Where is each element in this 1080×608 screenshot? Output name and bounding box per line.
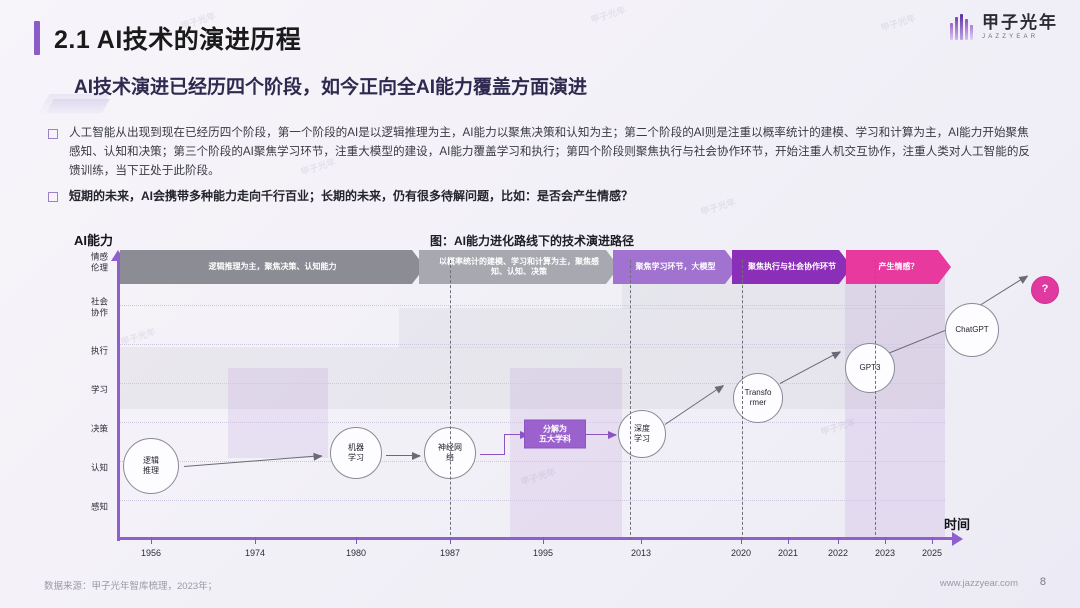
y-tick-label: 决策	[91, 424, 108, 435]
brand-logo: 甲子光年 JAZZYEAR	[950, 14, 1058, 40]
x-tick	[151, 537, 152, 544]
flow-arrow	[386, 455, 420, 456]
gridline	[120, 383, 945, 384]
y-tick-label: 社会协作	[91, 296, 108, 317]
plot-area: 情感伦理 社会协作 执行 学习 决策 认知 感知	[120, 266, 945, 537]
bullet-text: 短期的未来，AI会携带多种能力走向千行百业；长期的未来，仍有很多待解问题，比如：…	[69, 187, 633, 206]
logo-name-en: JAZZYEAR	[982, 34, 1058, 40]
x-tick	[255, 537, 256, 544]
node-label: Transformer	[745, 388, 772, 407]
watermark: 甲子光年	[589, 3, 627, 26]
bullet-square-icon	[48, 129, 58, 139]
x-tick	[788, 537, 789, 544]
phase-arrow-1[interactable]: 逻辑推理为主，聚焦决策、认知能力	[120, 250, 425, 284]
node-five-disciplines[interactable]: 分解为五大学科	[524, 420, 586, 449]
logo-bars-icon	[950, 14, 975, 40]
bullet-list: 人工智能从出现到现在已经历四个阶段，第一个阶段的AI是以逻辑推理为主，AI能力以…	[48, 124, 1040, 214]
y-tick-label: 学习	[91, 385, 108, 396]
title-accent-bar	[34, 21, 40, 55]
chart-container: AI能力 图：AI能力进化路线下的技术演进路径 时间 情感伦理 社会协作 执行 …	[0, 228, 1080, 568]
node-deep-learning[interactable]: 深度学习	[618, 410, 666, 458]
footer-page-number: 8	[1040, 576, 1046, 588]
phase-label: 聚焦执行与社会协作环节	[748, 262, 836, 272]
node-label: 分解为五大学科	[539, 424, 571, 444]
phase-arrow-5[interactable]: 产生情感？	[846, 250, 951, 284]
subtitle-decoration-2	[46, 99, 109, 113]
y-tick-label: 感知	[91, 502, 108, 513]
phase-divider	[742, 260, 743, 540]
node-label: 逻辑推理	[143, 456, 159, 475]
y-tick-label: 认知	[91, 463, 108, 474]
subtitle-block: AI技术演进已经历四个阶段，如今正向全AI能力覆盖方面演进	[52, 72, 587, 99]
x-tick-label: 1974	[245, 548, 265, 558]
node-label: ?	[1042, 283, 1049, 296]
node-gpt3[interactable]: GPT3	[845, 343, 895, 393]
x-tick	[356, 537, 357, 544]
x-tick-label: 1956	[141, 548, 161, 558]
phase-label: 产生情感？	[879, 262, 919, 272]
node-emotion-question[interactable]: ?	[1031, 276, 1059, 304]
x-tick	[932, 537, 933, 544]
phase-divider	[630, 260, 631, 540]
x-tick	[885, 537, 886, 544]
x-axis-arrowhead-icon	[952, 532, 963, 546]
node-label: 机器学习	[348, 443, 364, 462]
flow-arrow	[586, 434, 616, 435]
gridline	[120, 500, 945, 501]
flow-arrow	[978, 275, 1028, 307]
x-tick	[543, 537, 544, 544]
list-item: 短期的未来，AI会携带多种能力走向千行百业；长期的未来，仍有很多待解问题，比如：…	[48, 187, 1040, 206]
x-tick	[641, 537, 642, 544]
x-tick-label: 1987	[440, 548, 460, 558]
x-tick-label: 2022	[828, 548, 848, 558]
footer-url: www.jazzyear.com	[940, 578, 1018, 589]
x-tick-label: 2023	[875, 548, 895, 558]
flow-connector	[504, 434, 505, 455]
node-machine-learning[interactable]: 机器学习	[330, 427, 382, 479]
node-logic-reasoning[interactable]: 逻辑推理	[123, 438, 179, 494]
x-tick-label: 2020	[731, 548, 751, 558]
node-label: GPT3	[860, 363, 881, 373]
gridline	[120, 344, 945, 345]
y-axis-label: AI能力	[74, 230, 113, 249]
phase-label: 聚焦学习环节，大模型	[636, 262, 716, 272]
y-tick-label: 执行	[91, 346, 108, 357]
list-item: 人工智能从出现到现在已经历四个阶段，第一个阶段的AI是以逻辑推理为主，AI能力以…	[48, 124, 1040, 180]
phase-arrow-3[interactable]: 聚焦学习环节，大模型	[613, 250, 738, 284]
phase-divider	[450, 260, 451, 540]
x-axis	[117, 537, 955, 540]
bullet-text: 人工智能从出现到现在已经历四个阶段，第一个阶段的AI是以逻辑推理为主，AI能力以…	[69, 124, 1040, 180]
bullet-square-icon	[48, 192, 58, 202]
node-transformer[interactable]: Transformer	[733, 373, 783, 423]
watermark: 甲子光年	[879, 11, 917, 34]
x-tick-label: 2021	[778, 548, 798, 558]
page-title: 2.1 AI技术的演进历程	[34, 20, 301, 56]
x-tick-label: 1980	[346, 548, 366, 558]
node-label: ChatGPT	[955, 325, 988, 335]
phase-divider	[875, 260, 876, 540]
flow-arrow	[665, 385, 724, 425]
x-tick	[741, 537, 742, 544]
x-tick	[450, 537, 451, 544]
node-chatgpt[interactable]: ChatGPT	[945, 303, 999, 357]
x-axis-label: 时间	[944, 514, 970, 533]
phase-label: 逻辑推理为主，聚焦决策、认知能力	[209, 262, 337, 272]
title-label: 2.1 AI技术的演进历程	[54, 20, 301, 56]
footer-source: 数据来源：甲子光年智库梳理，2023年；	[44, 578, 217, 592]
x-tick-label: 2025	[922, 548, 942, 558]
node-label: 深度学习	[634, 424, 650, 443]
phase-label: 以概率统计的建模、学习和计算为主，聚焦感知、认知、决策	[435, 257, 603, 278]
y-tick-label: 情感伦理	[91, 251, 108, 272]
phase-arrow-2[interactable]: 以概率统计的建模、学习和计算为主，聚焦感知、认知、决策	[419, 250, 619, 284]
logo-name-cn: 甲子光年	[982, 14, 1058, 31]
subtitle-label: AI技术演进已经历四个阶段，如今正向全AI能力覆盖方面演进	[52, 72, 587, 99]
x-tick-label: 1995	[533, 548, 553, 558]
x-tick	[838, 537, 839, 544]
flow-connector	[480, 454, 504, 455]
chart-title: 图：AI能力进化路线下的技术演进路径	[232, 232, 832, 249]
gridline	[120, 305, 945, 306]
slide: 甲子光年 甲子光年 甲子光年 甲子光年 甲子光年 甲子光年 甲子光年 甲子光年 …	[0, 0, 1080, 608]
x-tick-label: 2013	[631, 548, 651, 558]
phase-arrow-4[interactable]: 聚焦执行与社会协作环节	[732, 250, 852, 284]
flow-arrow	[780, 351, 841, 384]
